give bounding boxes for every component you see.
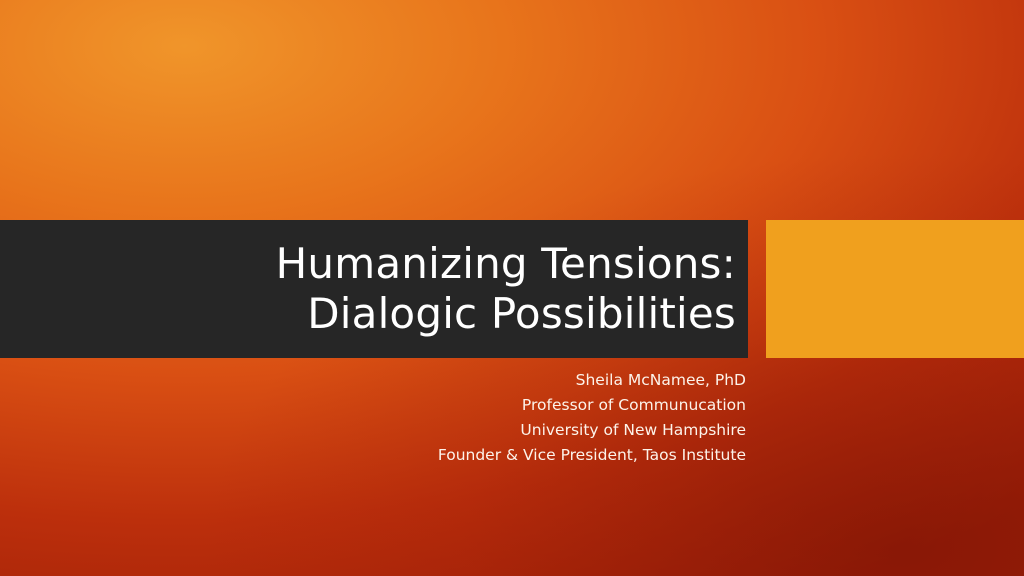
- subtitle-line-author: Sheila McNamee, PhD: [0, 368, 746, 393]
- page-title: Humanizing Tensions: Dialogic Possibilit…: [276, 239, 748, 338]
- subtitle-block: Sheila McNamee, PhD Professor of Communu…: [0, 368, 746, 468]
- subtitle-line-role: Professor of Communucation: [0, 393, 746, 418]
- presentation-slide: Humanizing Tensions: Dialogic Possibilit…: [0, 0, 1024, 576]
- accent-color-block: [766, 220, 1024, 358]
- subtitle-line-institution: University of New Hampshire: [0, 418, 746, 443]
- title-band: Humanizing Tensions: Dialogic Possibilit…: [0, 220, 748, 358]
- subtitle-line-affiliation: Founder & Vice President, Taos Institute: [0, 443, 746, 468]
